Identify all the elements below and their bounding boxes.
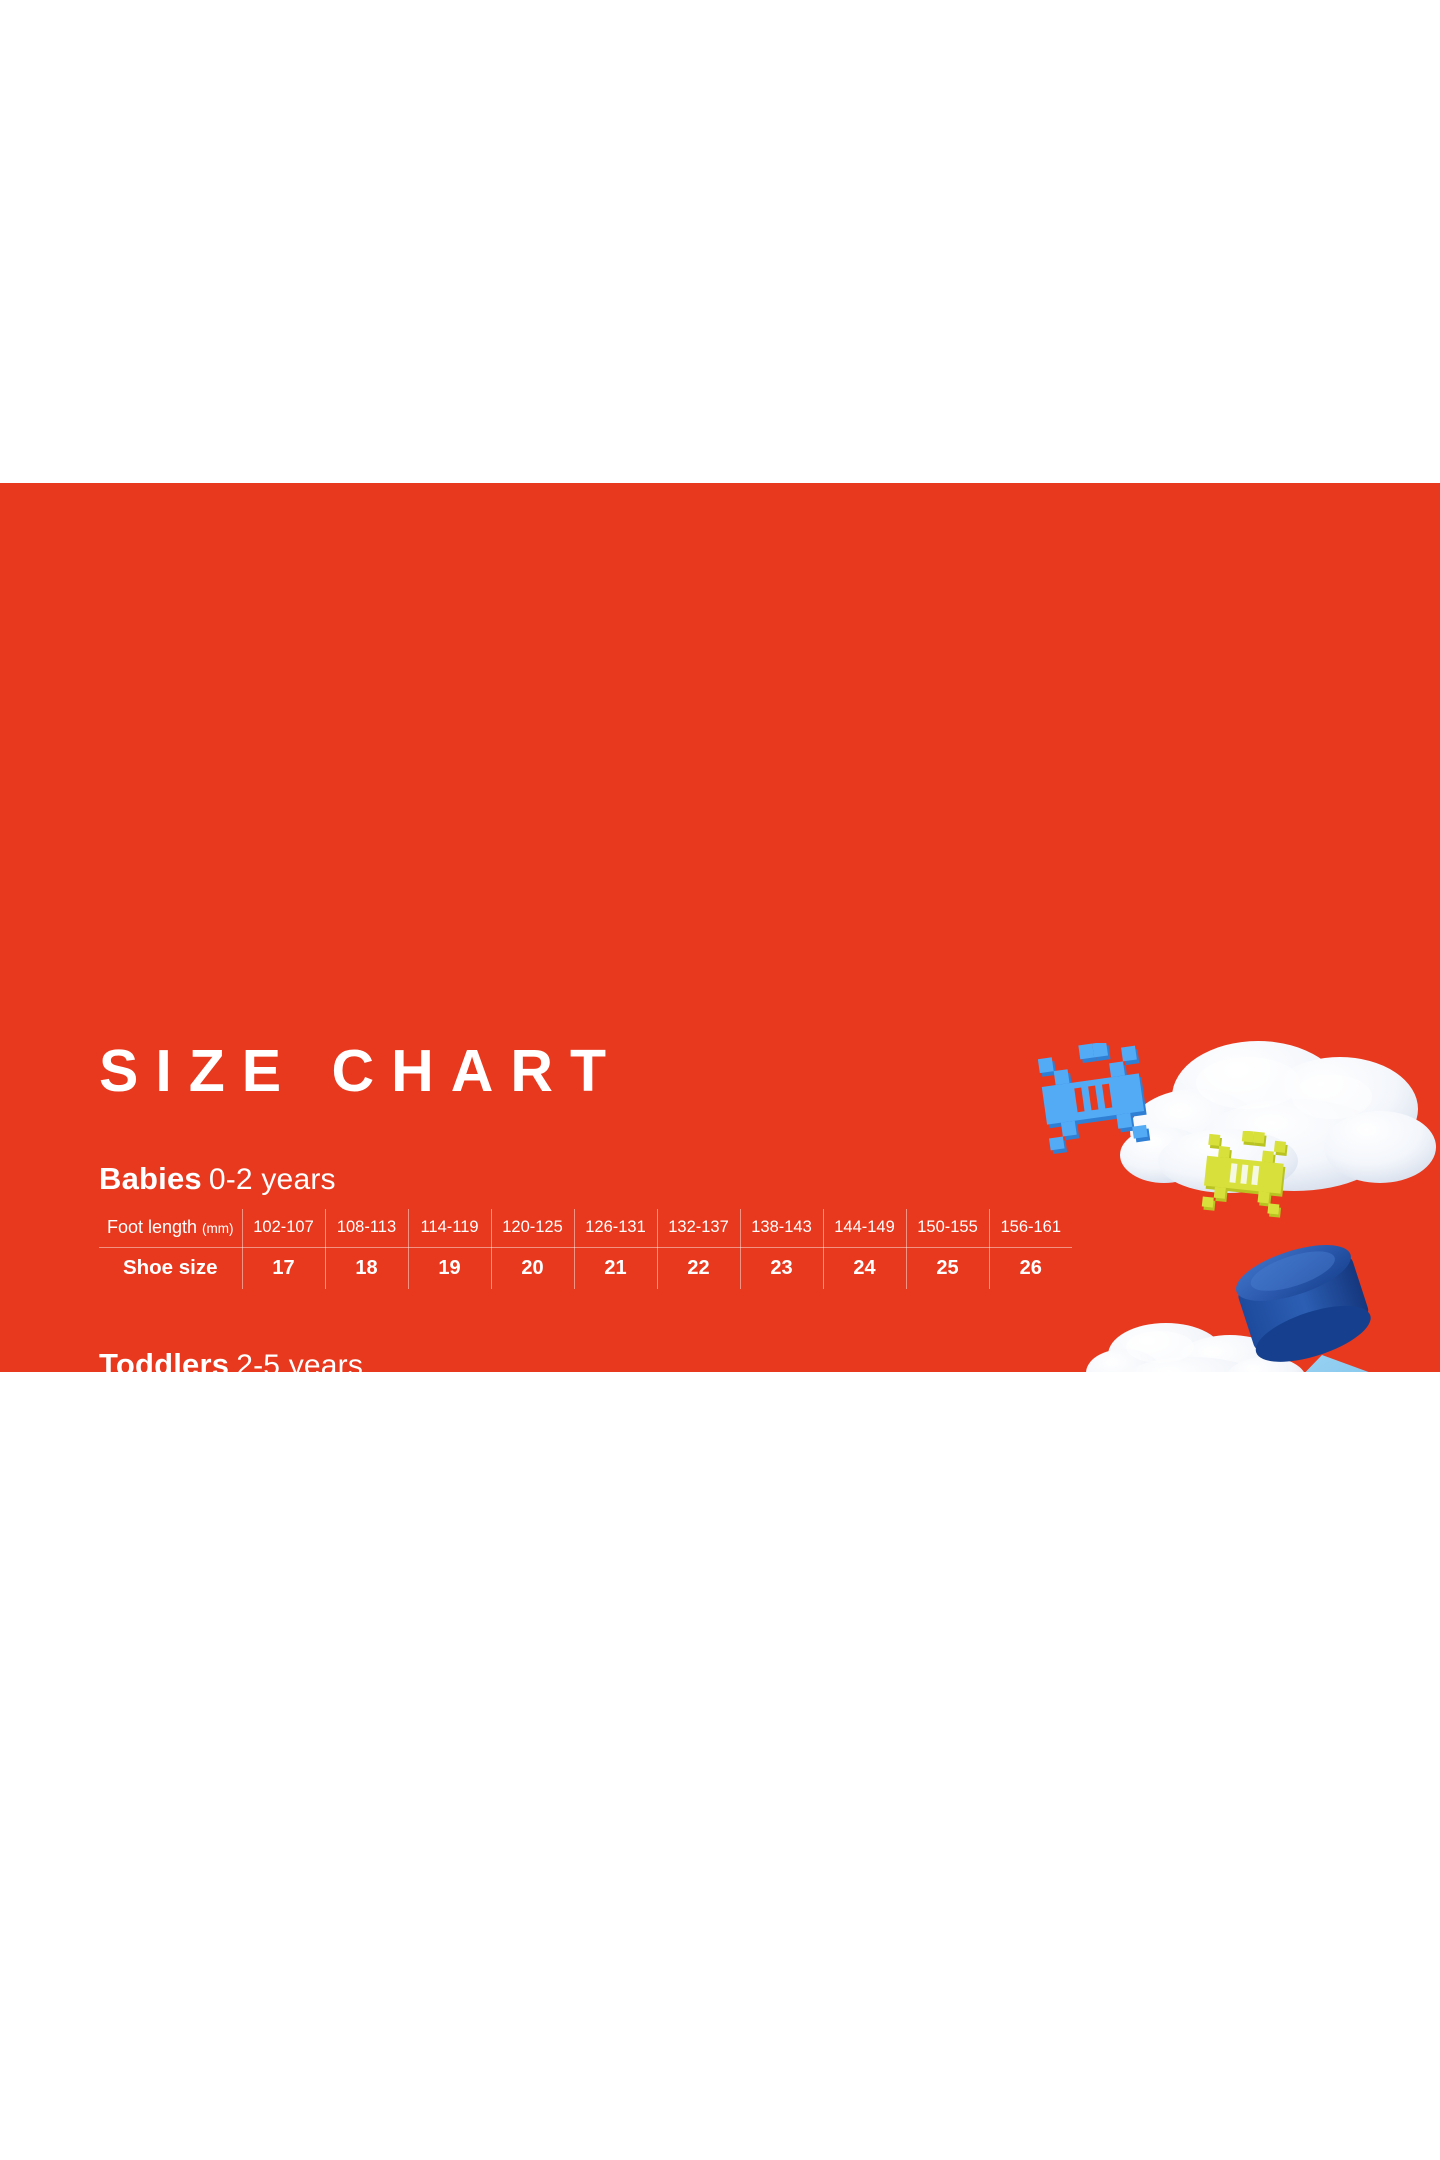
cell-shoe-size: 17 (242, 1247, 325, 1289)
cell-shoe-size: 18 (325, 1247, 408, 1289)
cell-shoe-size: 22 (657, 1247, 740, 1289)
page-title: SIZE CHART (99, 1042, 623, 1101)
section-heading-toddlers: Toddlers2-5 years (99, 1349, 1099, 1372)
section-age-range: 0-2 years (209, 1163, 336, 1196)
section-name: Babies (99, 1161, 202, 1196)
pixel-invader-icon (1200, 1131, 1295, 1226)
cell-shoe-size: 21 (574, 1247, 657, 1289)
section-name: Toddlers (99, 1347, 229, 1372)
cell-shoe-size: 24 (823, 1247, 906, 1289)
cell-foot-length: 144-149 (823, 1209, 906, 1247)
cell-foot-length: 120-125 (491, 1209, 574, 1247)
table-row: Shoe size 17 18 19 20 21 22 23 24 25 26 (99, 1247, 1072, 1289)
cell-shoe-size: 23 (740, 1247, 823, 1289)
cell-foot-length: 150-155 (906, 1209, 989, 1247)
section-heading-babies: Babies0-2 years (99, 1163, 1099, 1195)
row-label-text: Foot length (107, 1217, 197, 1237)
pixel-invader-icon (1038, 1043, 1163, 1155)
size-chart-page: SIZE CHART Babies0-2 years Foot length (… (0, 0, 1440, 2160)
table-row: Foot length (mm) 102-107 108-113 114-119… (99, 1209, 1072, 1247)
cell-foot-length: 132-137 (657, 1209, 740, 1247)
cloud-icon (1108, 1035, 1438, 1215)
section-babies: Babies0-2 years Foot length (mm) 102-107… (99, 1163, 1099, 1289)
toy-block-icon (1212, 1243, 1440, 1372)
section-age-range: 2-5 years (236, 1349, 363, 1372)
red-panel: SIZE CHART Babies0-2 years Foot length (… (0, 483, 1440, 1372)
cell-foot-length: 114-119 (408, 1209, 491, 1247)
cell-foot-length: 156-161 (989, 1209, 1072, 1247)
cell-shoe-size: 26 (989, 1247, 1072, 1289)
cell-foot-length: 102-107 (242, 1209, 325, 1247)
cell-shoe-size: 20 (491, 1247, 574, 1289)
cell-shoe-size: 19 (408, 1247, 491, 1289)
row-label-foot-length: Foot length (mm) (99, 1209, 242, 1247)
cloud-icon (1080, 1311, 1310, 1372)
cell-foot-length: 138-143 (740, 1209, 823, 1247)
row-label-shoe-size: Shoe size (99, 1247, 242, 1289)
section-toddlers: Toddlers2-5 years Foot length (mm) 162-1… (99, 1349, 1099, 1372)
cell-foot-length: 126-131 (574, 1209, 657, 1247)
row-label-unit: (mm) (202, 1221, 233, 1236)
cell-foot-length: 108-113 (325, 1209, 408, 1247)
size-table-babies: Foot length (mm) 102-107 108-113 114-119… (99, 1209, 1072, 1289)
cell-shoe-size: 25 (906, 1247, 989, 1289)
